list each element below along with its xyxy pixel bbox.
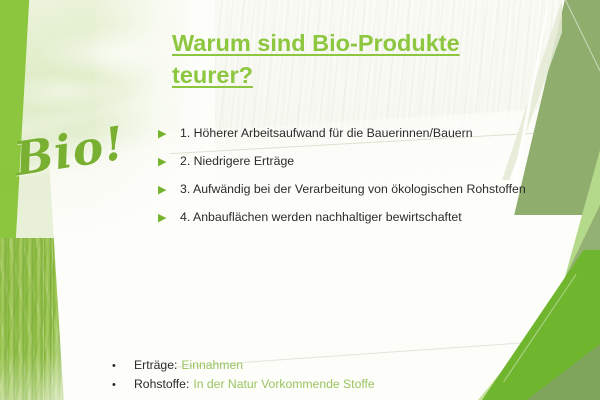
list-item-label: 2. Niedrigere Erträge bbox=[180, 152, 558, 172]
list-item: ▶ 2. Niedrigere Erträge bbox=[158, 152, 558, 172]
glossary-term: Erträge: bbox=[134, 358, 177, 372]
list-item-label: 3. Aufwändig bei der Verarbeitung von ök… bbox=[180, 180, 558, 200]
list-item: • Rohstoffe: In der Natur Vorkommende St… bbox=[112, 377, 512, 393]
presentation-slide: Bio! Warum sind Bio-Produkte teurer? ▶ 1… bbox=[0, 0, 600, 400]
list-item-label: 1. Höherer Arbeitsaufwand für die Baueri… bbox=[180, 124, 558, 144]
list-item-label: 4. Anbauflächen werden nachhaltiger bewi… bbox=[180, 208, 558, 228]
triangle-bullet-icon: ▶ bbox=[158, 124, 180, 144]
numbered-reason-list: ▶ 1. Höherer Arbeitsaufwand für die Baue… bbox=[158, 124, 558, 236]
slide-content: Warum sind Bio-Produkte teurer? ▶ 1. Höh… bbox=[0, 0, 600, 400]
glossary-term: Rohstoffe: bbox=[134, 377, 189, 391]
dot-bullet-icon: • bbox=[112, 377, 134, 393]
glossary-list: • Erträge: Einnahmen • Rohstoffe: In der… bbox=[112, 358, 512, 396]
triangle-bullet-icon: ▶ bbox=[158, 152, 180, 172]
triangle-bullet-icon: ▶ bbox=[158, 180, 180, 200]
list-item: ▶ 3. Aufwändig bei der Verarbeitung von … bbox=[158, 180, 558, 200]
list-item: ▶ 4. Anbauflächen werden nachhaltiger be… bbox=[158, 208, 558, 228]
list-item: • Erträge: Einnahmen bbox=[112, 358, 512, 374]
glossary-definition: In der Natur Vorkommende Stoffe bbox=[193, 377, 374, 391]
triangle-bullet-icon: ▶ bbox=[158, 208, 180, 228]
list-item: ▶ 1. Höherer Arbeitsaufwand für die Baue… bbox=[158, 124, 558, 144]
glossary-definition: Einnahmen bbox=[181, 358, 243, 372]
dot-bullet-icon: • bbox=[112, 358, 134, 374]
slide-title: Warum sind Bio-Produkte teurer? bbox=[172, 28, 502, 92]
